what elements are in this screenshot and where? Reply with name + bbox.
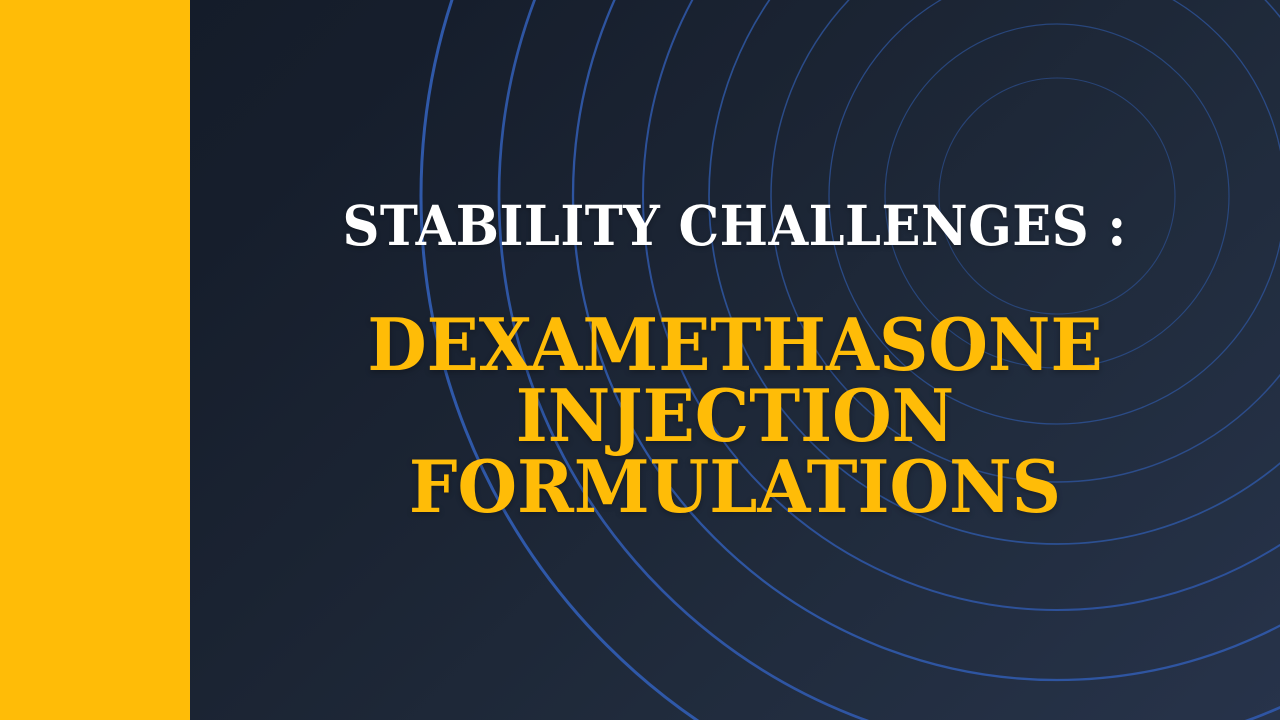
headline-line-1: DEXAMETHASONE xyxy=(367,309,1102,380)
slide-eyebrow: STABILITY CHALLENGES : xyxy=(343,198,1127,253)
slide-headline: DEXAMETHASONE INJECTION FORMULATIONS xyxy=(367,309,1102,523)
left-yellow-bar xyxy=(0,0,190,720)
title-slide: STABILITY CHALLENGES : DEXAMETHASONE INJ… xyxy=(0,0,1280,720)
slide-content: STABILITY CHALLENGES : DEXAMETHASONE INJ… xyxy=(190,0,1280,720)
headline-line-3: FORMULATIONS xyxy=(367,451,1102,522)
headline-line-2: INJECTION xyxy=(367,380,1102,451)
